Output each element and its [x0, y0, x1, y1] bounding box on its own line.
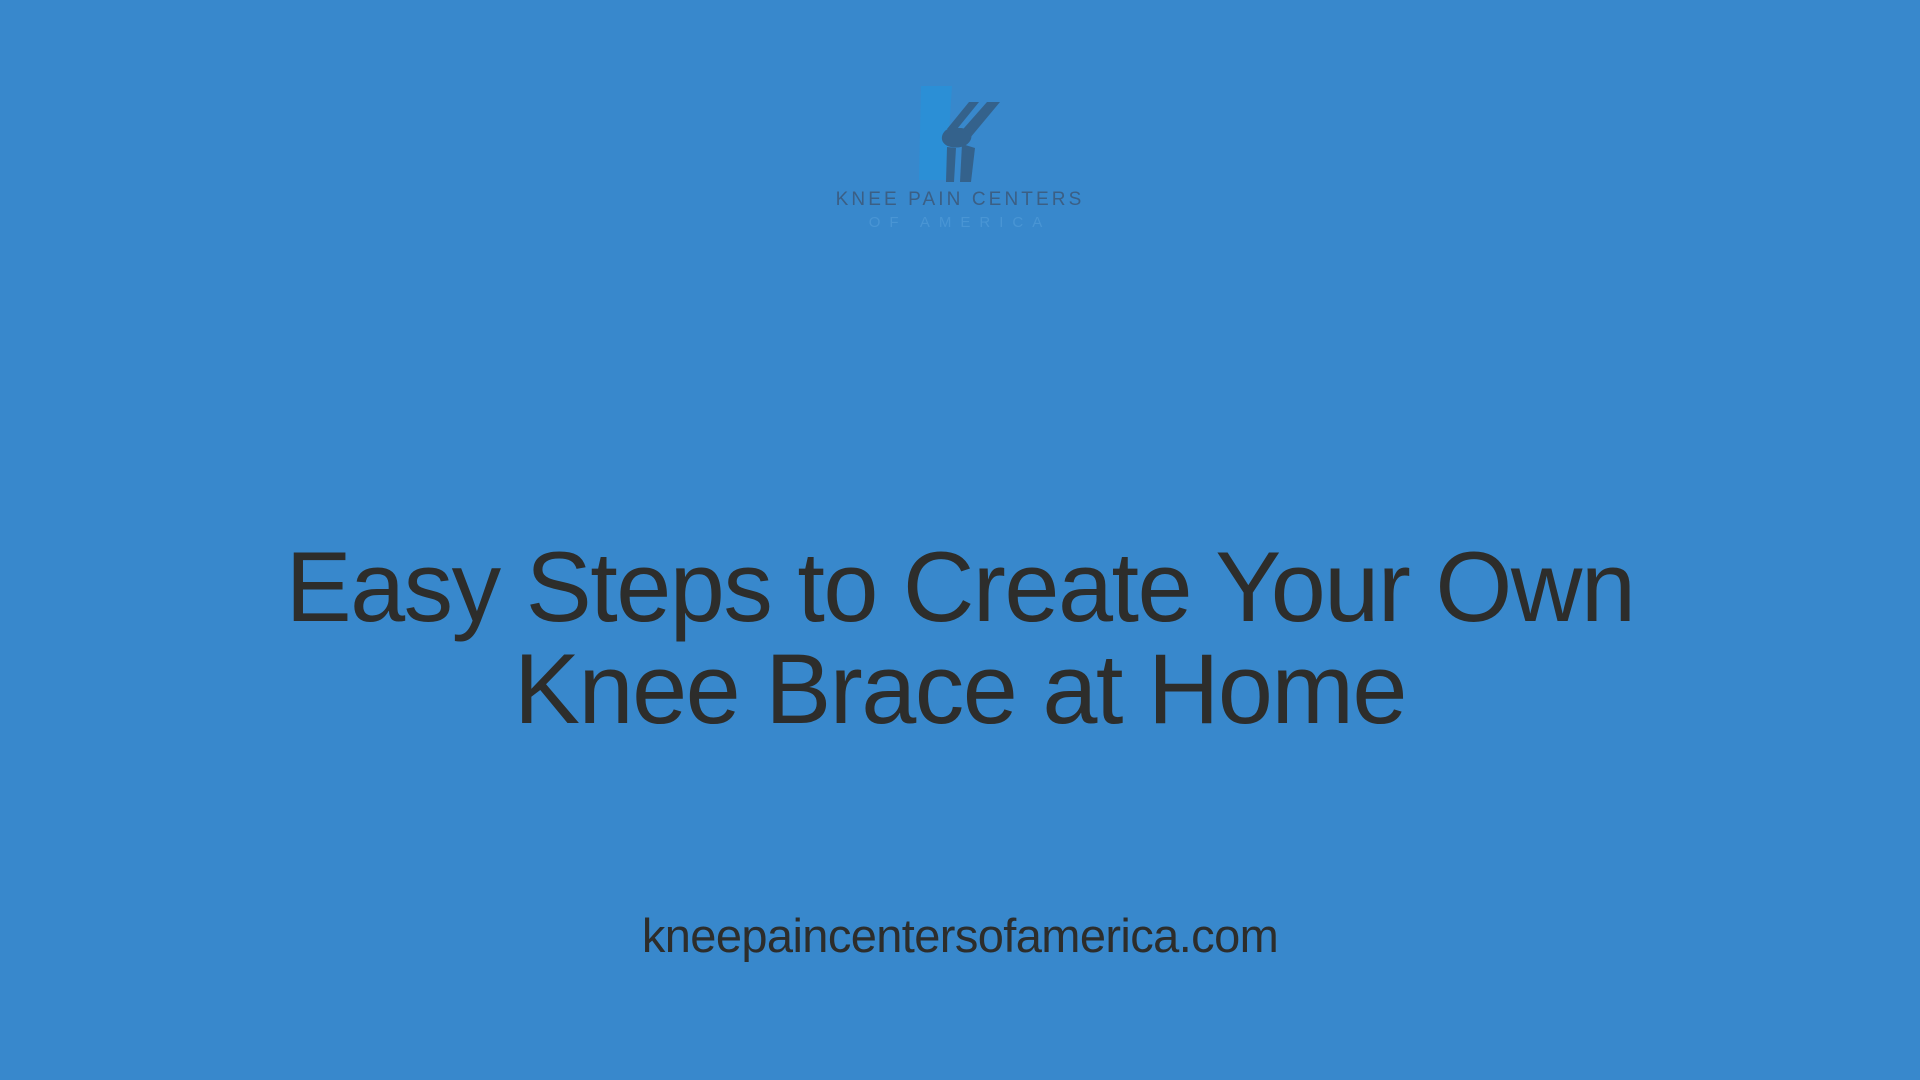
logo-subwordmark: OF AMERICA [869, 215, 1052, 230]
page-title: Easy Steps to Create Your Own Knee Brace… [0, 536, 1920, 740]
page-title-line-1: Easy Steps to Create Your Own [160, 536, 1760, 638]
knee-joint-k-logo-icon [905, 78, 1015, 188]
logo-lockup: KNEE PAIN CENTERS OF AMERICA [0, 78, 1920, 230]
logo-wordmark: KNEE PAIN CENTERS [836, 190, 1085, 209]
footer-website-url: kneepaincentersofamerica.com [0, 912, 1920, 959]
page-title-line-2: Knee Brace at Home [160, 638, 1760, 740]
title-slide: KNEE PAIN CENTERS OF AMERICA Easy Steps … [0, 0, 1920, 1080]
